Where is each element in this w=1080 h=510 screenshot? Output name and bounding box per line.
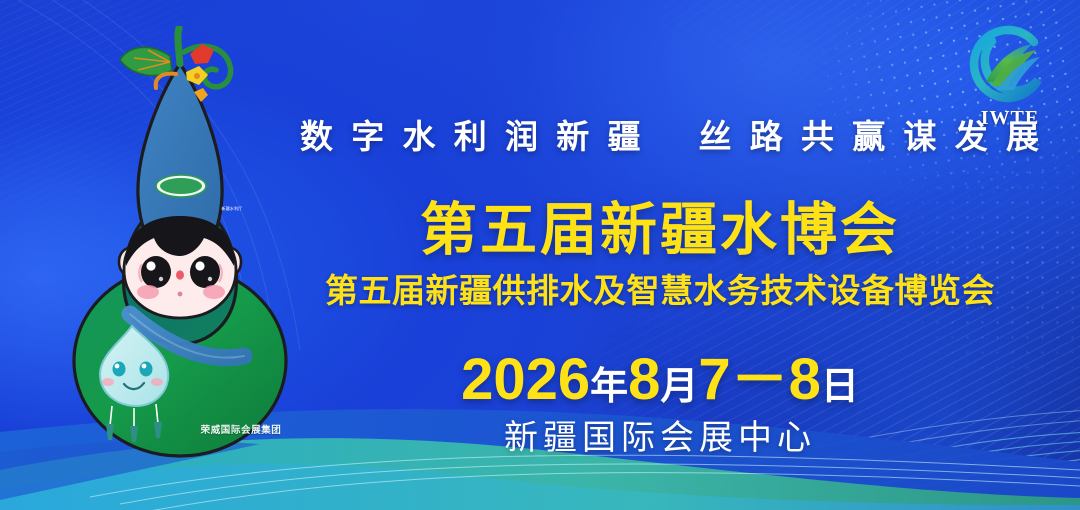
mascot-hood-badge-text: 新疆水利厅 (208, 206, 256, 212)
date-days: 7－8 (698, 347, 821, 412)
banner-tagline: 数 字 水 利 润 新 疆 丝 路 共 赢 谋 发 展 (300, 110, 1020, 158)
date-month: 8 (628, 347, 660, 412)
banner-text-block: 数 字 水 利 润 新 疆 丝 路 共 赢 谋 发 展 第五届新疆水博会 第五届… (300, 0, 1020, 510)
mascot-illustration (58, 26, 298, 478)
date-year: 2026 (461, 347, 590, 412)
banner-subtitle: 第五届新疆供排水及智慧水务技术设备博览会 (300, 264, 1020, 312)
banner-main-title: 第五届新疆水博会 (300, 184, 1020, 266)
banner-venue: 新疆国际会展中心 (300, 410, 1020, 459)
date-month-unit: 月 (660, 366, 698, 408)
date-year-unit: 年 (590, 366, 628, 408)
date-day-unit: 日 (821, 366, 859, 408)
exhibition-banner: IWTE (0, 0, 1080, 510)
gourd-mascot: 新疆水利厅 荣威国际会展集团 (58, 26, 298, 478)
mascot-brand-text: 荣威国际会展集团 (176, 422, 306, 436)
banner-date: 2026年8月7－8日 (300, 332, 1020, 416)
